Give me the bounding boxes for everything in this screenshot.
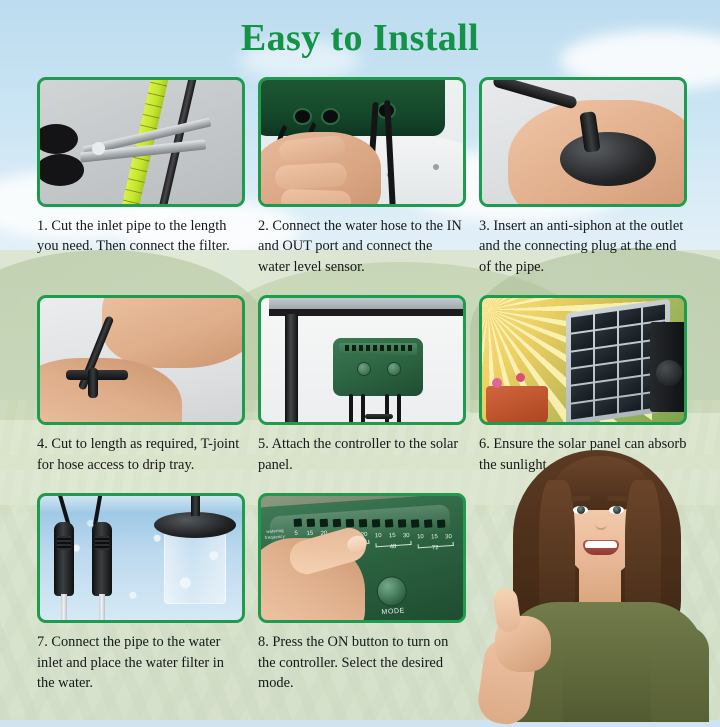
- water-level-sensor: [54, 522, 74, 596]
- anti-siphon-cap: [560, 132, 656, 186]
- step-card-4: 4. Cut to length as required, T-joint fo…: [37, 295, 245, 475]
- step-card-3: 3. Insert an anti-siphon at the outlet a…: [479, 77, 687, 277]
- step-card-5: 5. Attach the controller to the solar pa…: [258, 295, 466, 475]
- mounting-pole: [285, 314, 298, 425]
- steps-row-1: 1. Cut the inlet pipe to the length you …: [37, 77, 687, 277]
- step-caption-5: 5. Attach the controller to the solar pa…: [258, 434, 466, 475]
- page-title: Easy to Install: [0, 16, 720, 60]
- step-caption-3: 3. Insert an anti-siphon at the outlet a…: [479, 216, 687, 277]
- scale-value: 15: [431, 534, 438, 540]
- step-image-5: [258, 295, 466, 425]
- t-joint: [365, 414, 393, 419]
- step-image-2: [258, 77, 466, 207]
- mode-knob: [387, 362, 401, 376]
- mouth: [583, 540, 619, 555]
- step-image-6: [479, 295, 687, 425]
- sensor-probe: [61, 594, 67, 620]
- t-joint-stem: [88, 368, 98, 398]
- scissor-pivot: [92, 142, 105, 155]
- interval-value: 72: [432, 545, 439, 551]
- solar-panel-edge: [269, 295, 465, 316]
- step-caption-7: 7. Connect the pipe to the water inlet a…: [37, 632, 245, 693]
- step-image-7: [37, 493, 245, 623]
- scale-value: 10: [417, 534, 424, 540]
- step-caption-4: 4. Cut to length as required, T-joint fo…: [37, 434, 245, 475]
- hand: [37, 358, 182, 425]
- step-caption-1: 1. Cut the inlet pipe to the length you …: [37, 216, 245, 257]
- on-off-knob: [357, 362, 371, 376]
- finger: [281, 189, 352, 207]
- step-card-1: 1. Cut the inlet pipe to the length you …: [37, 77, 245, 277]
- scale-value: 30: [403, 533, 410, 539]
- step-caption-2: 2. Connect the water hose to the IN and …: [258, 216, 466, 277]
- eye: [609, 506, 624, 514]
- scale-value: 10: [375, 533, 382, 539]
- step-image-1: [37, 77, 245, 207]
- filter-stem: [191, 494, 200, 516]
- teeth: [585, 541, 617, 548]
- cable: [385, 394, 389, 425]
- step-caption-8: 8. Press the ON button to turn on the co…: [258, 632, 466, 693]
- step-card-7: 7. Connect the pipe to the water inlet a…: [37, 493, 245, 693]
- finger: [274, 162, 347, 190]
- scale-value: 5: [294, 531, 298, 537]
- scissor-handle: [37, 154, 84, 186]
- scale-value: 30: [445, 534, 452, 540]
- step-card-8: watering frequency 5 15 20 12 5 15 20: [258, 493, 466, 693]
- smiling-woman-thumbs-up: [475, 440, 720, 720]
- mode-button[interactable]: [376, 576, 408, 608]
- cable: [397, 394, 401, 425]
- interval-value: 48: [390, 544, 397, 550]
- pipe-end: [492, 77, 578, 110]
- step-image-3: [479, 77, 687, 207]
- scale-value: 15: [389, 533, 396, 539]
- eye: [573, 506, 588, 514]
- mode-button-label: MODE: [370, 607, 416, 617]
- water-filter: [164, 532, 226, 604]
- flower-pot: [486, 386, 548, 425]
- controller-faceplate: [339, 343, 417, 355]
- water-level-sensor: [92, 522, 112, 596]
- sleeve: [651, 626, 709, 722]
- cable: [361, 394, 365, 425]
- step-image-8: watering frequency 5 15 20 12 5 15 20: [258, 493, 466, 623]
- nose: [595, 514, 607, 530]
- step-image-4: [37, 295, 245, 425]
- sensor-probe: [99, 594, 105, 620]
- step-card-2: 2. Connect the water hose to the IN and …: [258, 77, 466, 277]
- scissor-handle: [37, 124, 78, 154]
- scale-value: 15: [306, 531, 313, 537]
- hand: [102, 295, 245, 368]
- cable: [349, 394, 353, 425]
- controller-unit: [333, 338, 423, 396]
